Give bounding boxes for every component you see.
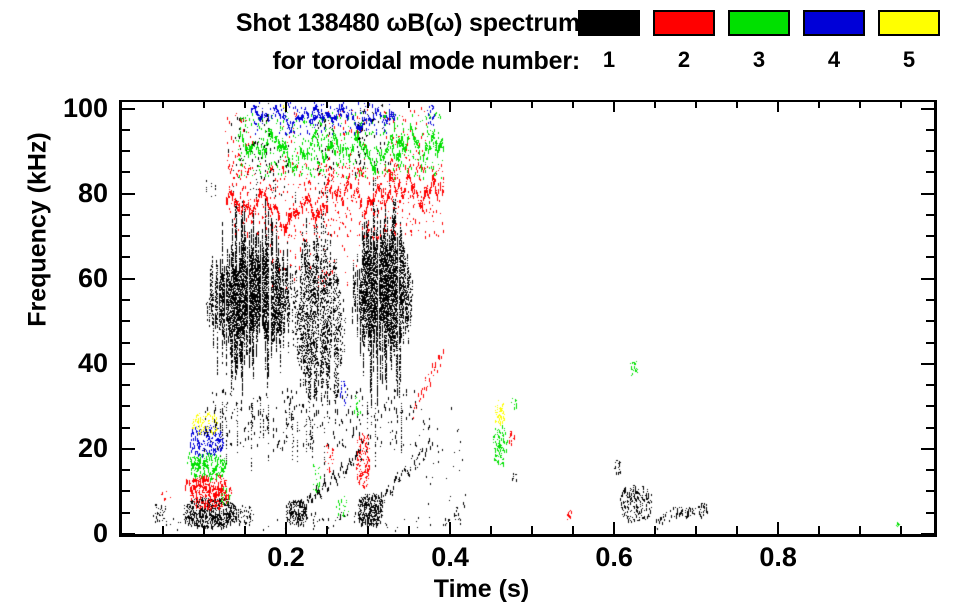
legend-item-n3[interactable]: 3 [728,10,790,72]
top-frame-line [119,100,937,102]
x-tick-top-0.05 [162,100,164,108]
legend-label-n1: 1 [578,48,640,72]
y-tick-75 [122,214,130,216]
x-tick-top-0.75 [736,100,738,108]
y-tick-95 [122,129,130,131]
y-tick-right-25 [926,427,934,429]
x-tick-0.55 [572,526,574,534]
y-tick-right-45 [926,342,934,344]
title-line-2-text: for toroidal mode number: [272,47,580,75]
x-tick-top-0.55 [572,100,574,108]
x-tick-top-0.90 [859,100,861,108]
x-tick-top-0.15 [244,100,246,108]
x-tick-0.65 [654,526,656,534]
y-tick-0 [122,533,135,535]
x-tick-top-0.70 [695,100,697,108]
y-tick-right-65 [926,256,934,258]
legend-label-n4: 4 [803,48,865,72]
y-tick-label-20: 20 [38,435,108,462]
y-tick-5 [122,512,130,514]
legend-label-n2: 2 [653,48,715,72]
x-tick-label-0.8: 0.8 [733,542,823,572]
y-tick-10 [122,490,130,492]
y-tick-90 [122,150,130,152]
y-axis-line [119,100,122,537]
x-tick-0.75 [736,526,738,534]
y-tick-right-55 [926,299,934,301]
legend-swatch-n2 [653,10,715,36]
spectrogram-canvas [122,100,934,534]
y-tick-right-100 [921,108,934,110]
x-tick-top-0.60 [613,100,615,112]
legend-swatch-n5 [878,10,940,36]
y-tick-right-85 [926,171,934,173]
x-tick-top-0.40 [449,100,451,112]
y-tick-right-0 [921,533,934,535]
x-tick-0.30 [367,526,369,534]
x-tick-top-0.50 [531,100,533,108]
x-axis-line [119,534,937,537]
x-tick-0.90 [859,526,861,534]
title-line-1-text: Shot 138480 ωB(ω) spectrum [236,9,580,37]
y-tick-70 [122,235,130,237]
y-tick-55 [122,299,130,301]
x-tick-0.15 [244,526,246,534]
x-tick-top-0.30 [367,100,369,108]
title-line-1: Shot 138480 ωB(ω) spectrum [0,4,580,42]
x-tick-0.25 [326,526,328,534]
y-tick-35 [122,384,130,386]
legend: 12345 [578,10,963,90]
x-tick-top-0.20 [285,100,287,112]
y-tick-right-20 [921,448,934,450]
spectrogram-figure: Shot 138480 ωB(ω) spectrum for toroidal … [0,0,963,615]
x-tick-0.60 [613,522,615,534]
figure-title: Shot 138480 ωB(ω) spectrum for toroidal … [0,4,580,80]
legend-swatch-n3 [728,10,790,36]
x-tick-top-0.45 [490,100,492,108]
x-tick-top-0.80 [777,100,779,112]
x-tick-0.70 [695,526,697,534]
x-tick-0.45 [490,526,492,534]
x-axis-label: Time (s) [0,575,963,604]
x-tick-label-0.2: 0.2 [241,542,331,572]
x-tick-0.40 [449,522,451,534]
title-line-2: for toroidal mode number: [0,42,580,80]
y-tick-right-75 [926,214,934,216]
x-tick-0.80 [777,522,779,534]
x-tick-0.50 [531,526,533,534]
y-tick-50 [122,320,130,322]
x-tick-label-0.4: 0.4 [405,542,495,572]
x-tick-0.95 [900,526,902,534]
y-tick-20 [122,448,135,450]
y-tick-right-60 [921,278,934,280]
x-tick-top-0.65 [654,100,656,108]
x-tick-top-0.25 [326,100,328,108]
x-tick-0.10 [203,526,205,534]
y-tick-60 [122,278,135,280]
x-tick-top-0.10 [203,100,205,108]
legend-item-n5[interactable]: 5 [878,10,940,72]
y-tick-30 [122,405,130,407]
x-tick-0.20 [285,522,287,534]
x-tick-top-0.35 [408,100,410,108]
legend-item-n1[interactable]: 1 [578,10,640,72]
x-tick-top-0.95 [900,100,902,108]
x-tick-0.05 [162,526,164,534]
y-tick-right-35 [926,384,934,386]
legend-swatch-n1 [578,10,640,36]
y-tick-100 [122,108,135,110]
x-tick-top-0.85 [818,100,820,108]
y-tick-right-90 [926,150,934,152]
plot-canvas-area [122,100,934,534]
x-tick-label-0.6: 0.6 [569,542,659,572]
y-axis-label: Frequency (kHz) [24,30,53,430]
y-tick-right-5 [926,512,934,514]
y-tick-right-40 [921,363,934,365]
y-tick-right-15 [926,469,934,471]
legend-item-n4[interactable]: 4 [803,10,865,72]
y-tick-85 [122,171,130,173]
y-tick-15 [122,469,130,471]
legend-label-n5: 5 [878,48,940,72]
y-tick-right-30 [926,405,934,407]
legend-item-n2[interactable]: 2 [653,10,715,72]
y-tick-right-70 [926,235,934,237]
y-tick-40 [122,363,135,365]
y-tick-25 [122,427,130,429]
x-tick-0.35 [408,526,410,534]
y-tick-label-0: 0 [38,520,108,547]
legend-swatch-n4 [803,10,865,36]
y-tick-right-50 [926,320,934,322]
y-tick-65 [122,256,130,258]
legend-label-n3: 3 [728,48,790,72]
y-tick-right-95 [926,129,934,131]
y-tick-right-10 [926,490,934,492]
y-tick-80 [122,193,135,195]
y-tick-right-80 [921,193,934,195]
right-frame-line [934,100,937,537]
y-tick-45 [122,342,130,344]
x-tick-0.85 [818,526,820,534]
